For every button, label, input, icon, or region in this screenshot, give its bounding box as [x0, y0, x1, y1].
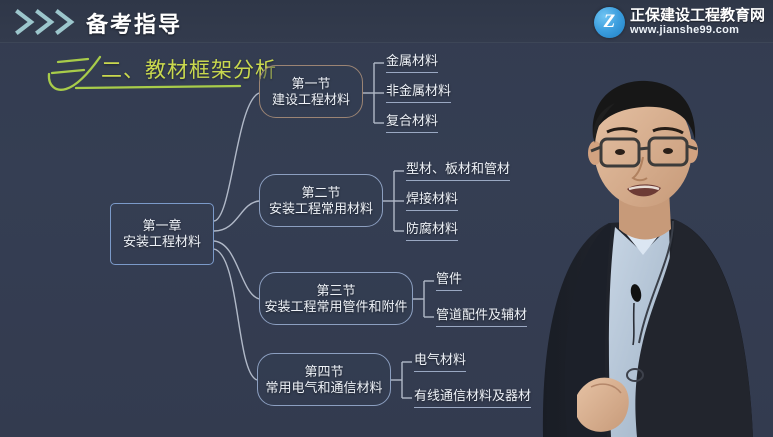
mindmap-section-node-1[interactable]: 第一节 建设工程材料 — [259, 65, 363, 118]
slide-header: 备考指导 Z 正保建设工程教育网 www.jianshe99.com — [0, 0, 773, 43]
logo-mark-icon: Z — [594, 7, 625, 38]
mindmap-root-node[interactable]: 第一章 安装工程材料 — [110, 203, 214, 265]
brand-logo: Z 正保建设工程教育网 www.jianshe99.com — [594, 3, 765, 41]
slide-canvas: 备考指导 Z 正保建设工程教育网 www.jianshe99.com 二、教材框… — [0, 0, 773, 437]
section-2-line-1: 第二节 — [301, 185, 340, 201]
chevrons-right-icon — [14, 8, 84, 36]
leaf-node[interactable]: 金属材料 — [386, 50, 438, 73]
leaf-node[interactable]: 有线通信材料及器材 — [414, 385, 531, 408]
presenter-head — [588, 81, 698, 207]
leaf-node[interactable]: 型材、板材和管材 — [406, 158, 510, 181]
mindmap-section-node-3[interactable]: 第三节 安装工程常用管件和附件 — [259, 272, 413, 325]
mindmap-section-node-4[interactable]: 第四节 常用电气和通信材料 — [257, 353, 391, 406]
mindmap-section-node-2[interactable]: 第二节 安装工程常用材料 — [259, 174, 383, 227]
root-line-1: 第一章 — [142, 218, 181, 234]
logo-brand-name: 正保建设工程教育网 — [630, 7, 765, 24]
section-2-line-2: 安装工程常用材料 — [269, 201, 373, 217]
section-1-line-2: 建设工程材料 — [272, 92, 350, 108]
leaf-node[interactable]: 电气材料 — [414, 349, 466, 372]
root-line-2: 安装工程材料 — [123, 234, 201, 250]
leaf-node[interactable]: 焊接材料 — [406, 188, 458, 211]
section-3-line-2: 安装工程常用管件和附件 — [264, 299, 407, 315]
section-4-line-2: 常用电气和通信材料 — [265, 380, 382, 396]
logo-letter: Z — [594, 11, 625, 33]
logo-website-url: www.jianshe99.com — [630, 24, 765, 37]
leaf-node[interactable]: 管道配件及辅材 — [436, 304, 527, 327]
section-1-line-1: 第一节 — [291, 76, 330, 92]
presenter-body — [543, 217, 753, 437]
leaf-node[interactable]: 防腐材料 — [406, 218, 458, 241]
leaf-node[interactable]: 非金属材料 — [386, 80, 451, 103]
leaf-node[interactable]: 管件 — [436, 268, 462, 291]
presenter-video — [523, 77, 773, 437]
page-title: 备考指导 — [86, 7, 182, 39]
logo-text-block: 正保建设工程教育网 www.jianshe99.com — [630, 7, 765, 37]
section-3-line-1: 第三节 — [316, 283, 355, 299]
section-4-line-1: 第四节 — [304, 364, 343, 380]
leaf-node[interactable]: 复合材料 — [386, 110, 438, 133]
